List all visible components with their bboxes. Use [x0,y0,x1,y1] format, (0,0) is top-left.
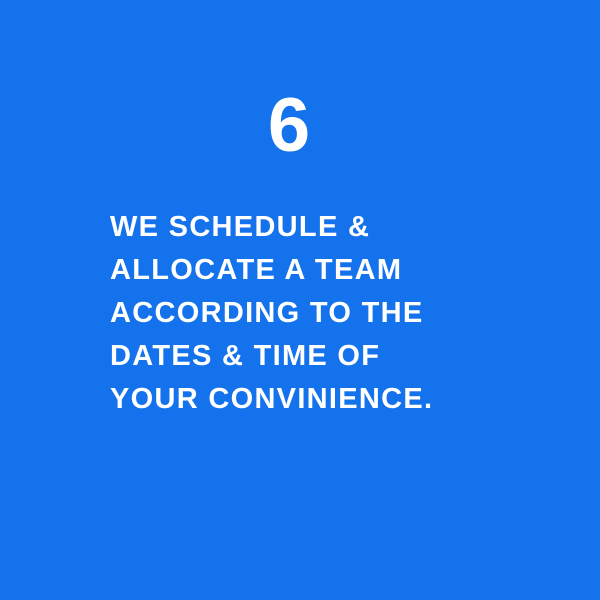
description-line-3: ACCORDING TO THE [110,292,570,335]
step-card: 6 WE SCHEDULE & ALLOCATE A TEAM ACCORDIN… [0,0,600,600]
description-line-2: ALLOCATE A TEAM [110,249,570,292]
step-number: 6 [0,84,578,168]
description-line-1: WE SCHEDULE & [110,206,570,249]
description-line-4: DATES & TIME OF [110,335,570,378]
description-line-5: YOUR CONVINIENCE. [110,378,570,421]
step-description: WE SCHEDULE & ALLOCATE A TEAM ACCORDING … [110,206,570,421]
